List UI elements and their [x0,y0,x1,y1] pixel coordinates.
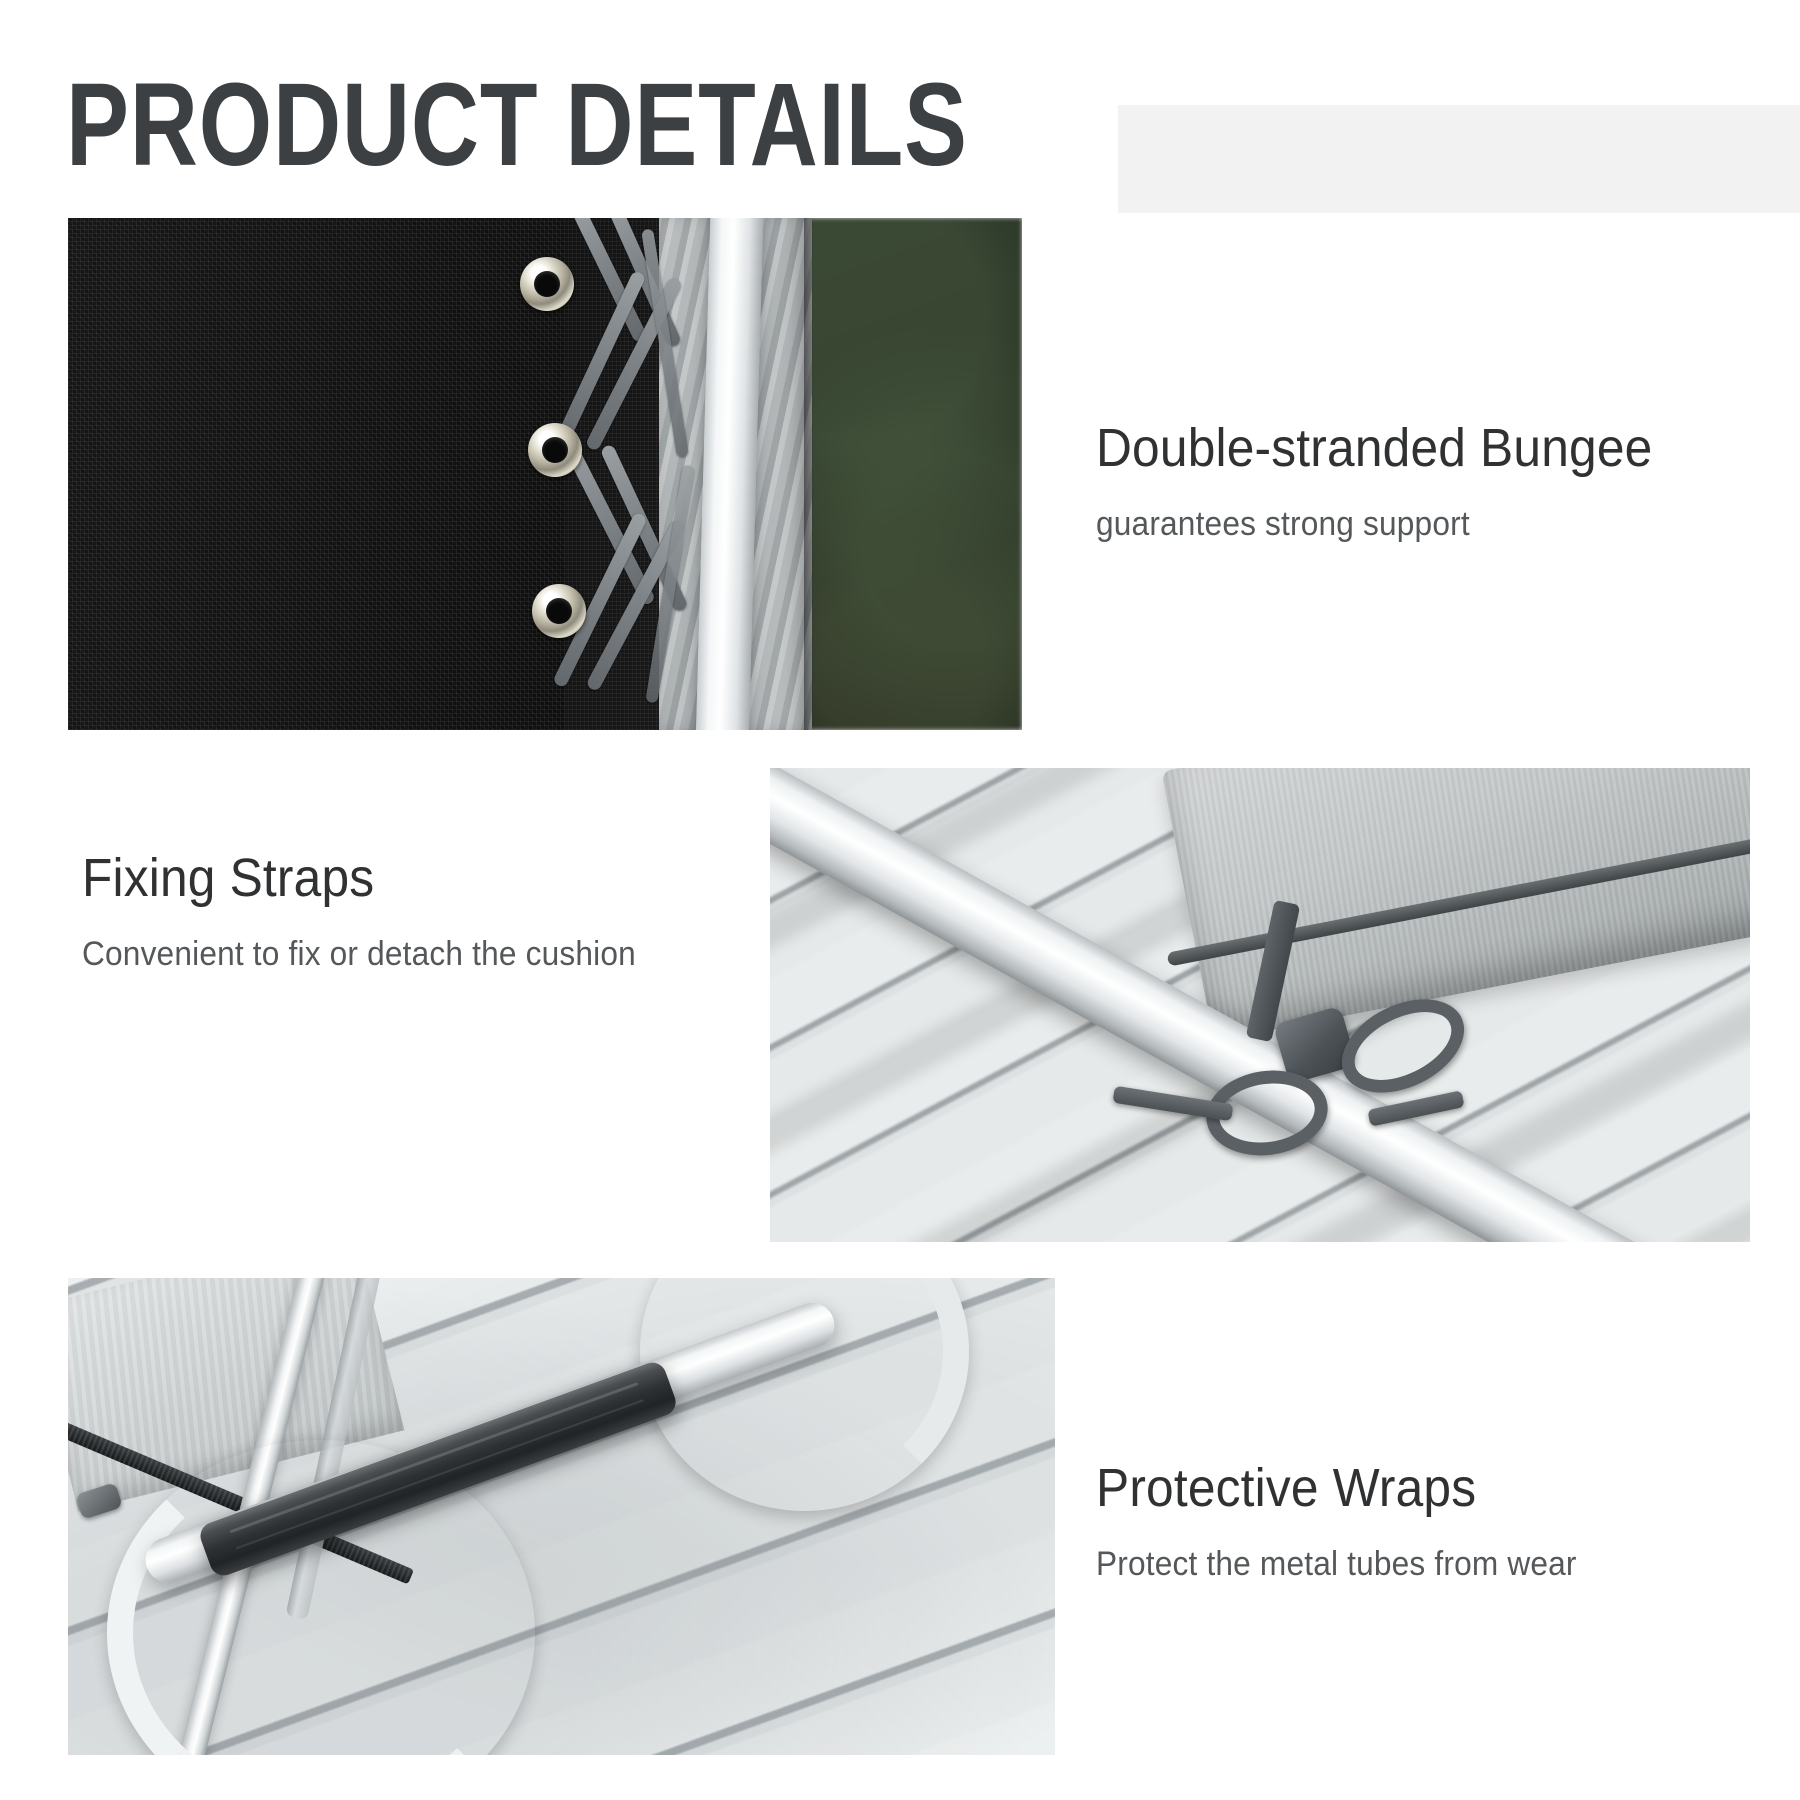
feature-subtext: Convenient to fix or detach the cushion [82,934,636,974]
product-details-infographic: PRODUCT DETAILS Double-stranded Bungee g… [0,0,1800,1800]
metal-grommet [520,257,574,311]
page-title: PRODUCT DETAILS [66,66,968,184]
feature-image-double-stranded-bungee [68,218,1022,730]
feature-heading: Double-stranded Bungee [1096,418,1652,478]
feature-image-fixing-straps [770,768,1750,1242]
feature-text-double-stranded-bungee: Double-stranded Bungee guarantees strong… [1096,418,1701,544]
title-accent-band [1118,105,1800,213]
feature-subtext: guarantees strong support [1096,504,1659,544]
feature-text-protective-wraps: Protective Wraps Protect the metal tubes… [1096,1458,1613,1584]
metal-grommet [532,584,586,638]
feature-heading: Protective Wraps [1096,1458,1571,1518]
feature-heading: Fixing Straps [82,848,630,908]
feature-subtext: Protect the metal tubes from wear [1096,1544,1577,1584]
metal-grommet [528,423,582,477]
feature-image-protective-wraps [68,1278,1055,1755]
feature-text-fixing-straps: Fixing Straps Convenient to fix or detac… [82,848,678,974]
